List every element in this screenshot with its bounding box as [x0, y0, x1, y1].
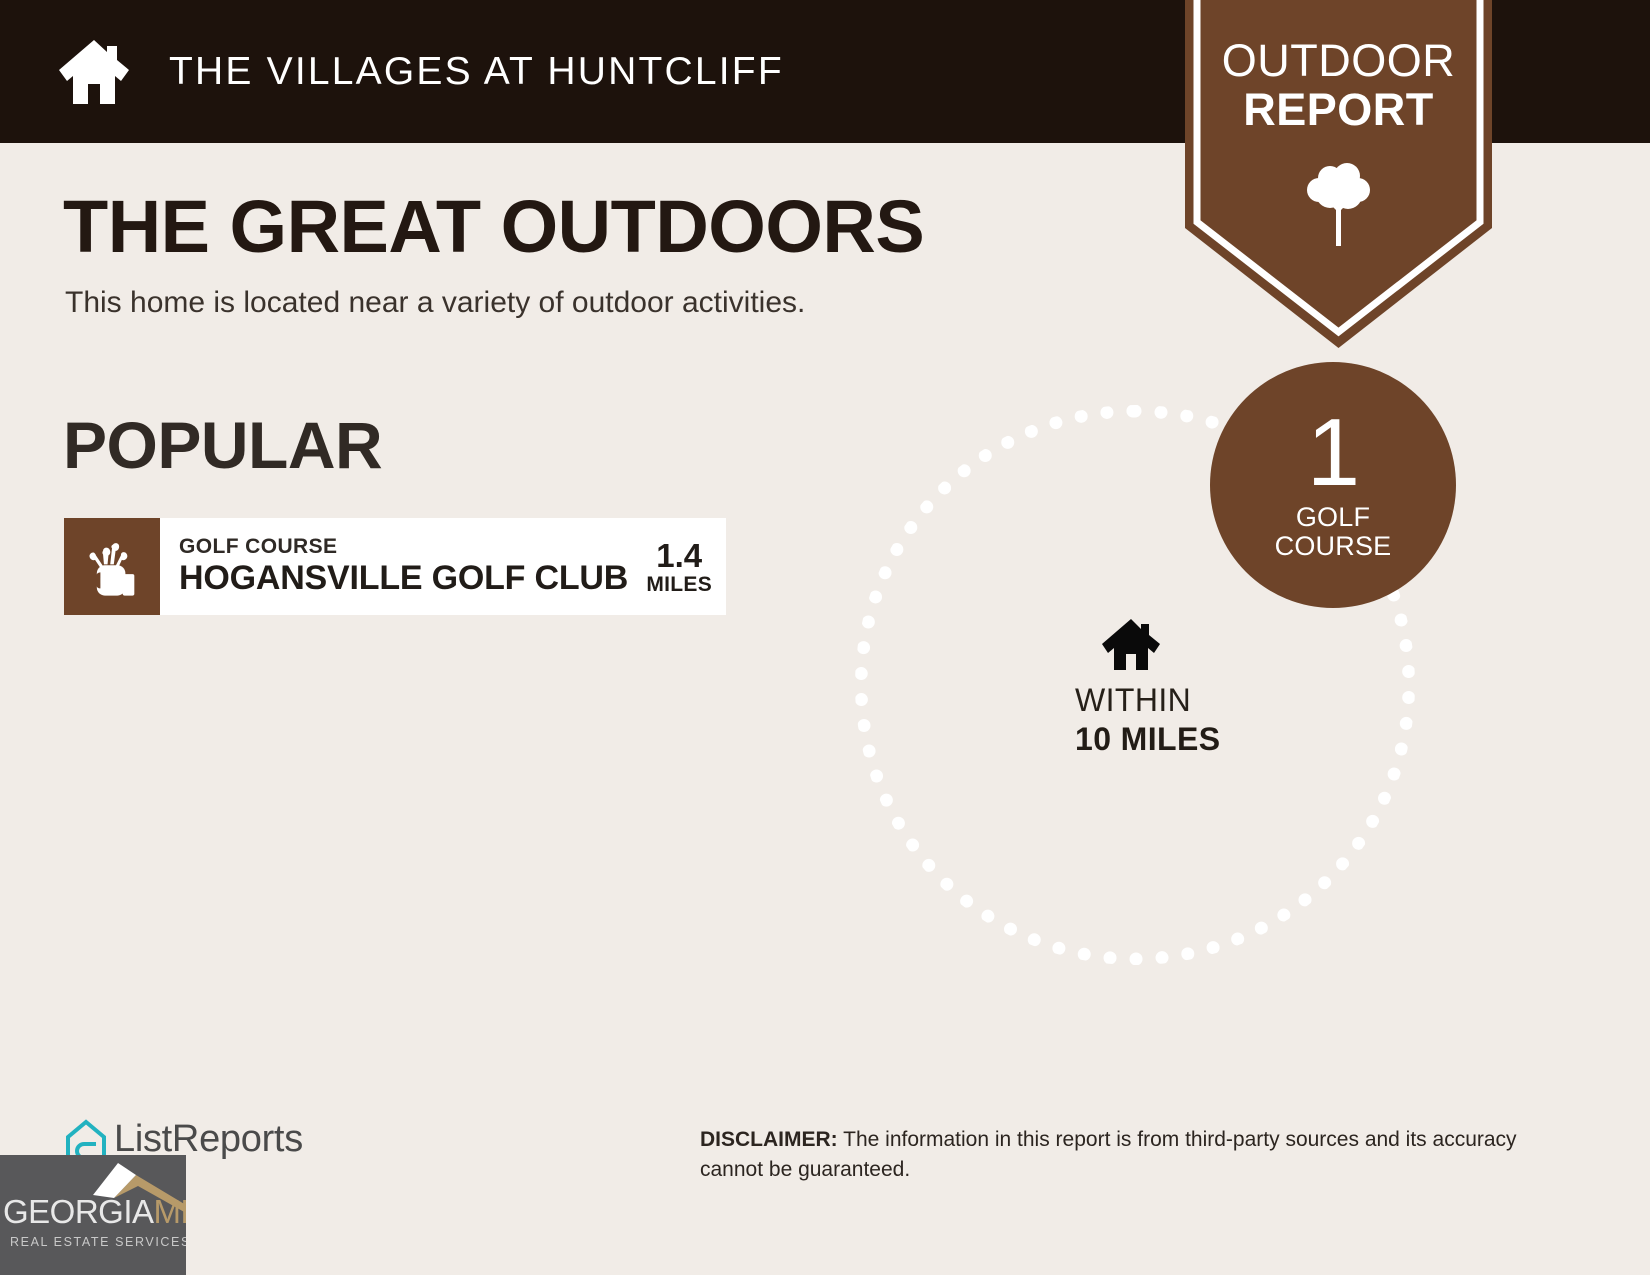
- mls-mls-text: MLS: [154, 1193, 186, 1230]
- home-icon: [1075, 616, 1187, 672]
- poi-category: GOLF COURSE: [179, 535, 628, 559]
- mls-wordmark: GEORGIAMLS: [3, 1193, 183, 1231]
- home-marker: WITHIN 10 MILES: [1075, 616, 1187, 758]
- home-within-label: WITHIN: [1075, 682, 1187, 719]
- tree-icon: [1306, 160, 1372, 250]
- home-radius-label: 10 MILES: [1075, 721, 1187, 758]
- page-subtitle: This home is located near a variety of o…: [65, 286, 805, 320]
- count-label-line2: COURSE: [1275, 531, 1392, 561]
- poi-body: GOLF COURSE HOGANSVILLE GOLF CLUB 1.4 MI…: [160, 518, 726, 615]
- disclaimer: DISCLAIMER: The information in this repo…: [700, 1125, 1520, 1186]
- list-item[interactable]: GOLF COURSE HOGANSVILLE GOLF CLUB 1.4 MI…: [64, 518, 726, 615]
- count-label-line1: GOLF: [1296, 502, 1370, 532]
- count-label: GOLF COURSE: [1275, 503, 1392, 561]
- poi-distance-value: 1.4: [646, 539, 712, 572]
- count-number: 1: [1307, 409, 1359, 497]
- poi-distance: 1.4 MILES: [636, 539, 712, 595]
- georgia-mls-logo: GEORGIAMLS REAL ESTATE SERVICES: [0, 1155, 186, 1275]
- mls-georgia-text: GEORGIA: [3, 1193, 154, 1230]
- outdoor-report-badge: OUTDOOR REPORT: [1185, 0, 1492, 348]
- poi-name: HOGANSVILLE GOLF CLUB: [179, 560, 628, 597]
- poi-distance-unit: MILES: [646, 574, 712, 595]
- count-bubble-golf-course: 1 GOLF COURSE: [1210, 362, 1456, 608]
- disclaimer-label: DISCLAIMER:: [700, 1128, 838, 1151]
- section-title-popular: POPULAR: [63, 412, 382, 478]
- home-icon: [55, 36, 133, 108]
- mls-subtitle: REAL ESTATE SERVICES: [10, 1235, 186, 1249]
- golf-bag-icon: [64, 518, 160, 615]
- poi-texts: GOLF COURSE HOGANSVILLE GOLF CLUB: [179, 535, 628, 598]
- property-name: THE VILLAGES AT HUNTCLIFF: [169, 50, 784, 94]
- page-title: THE GREAT OUTDOORS: [63, 190, 924, 264]
